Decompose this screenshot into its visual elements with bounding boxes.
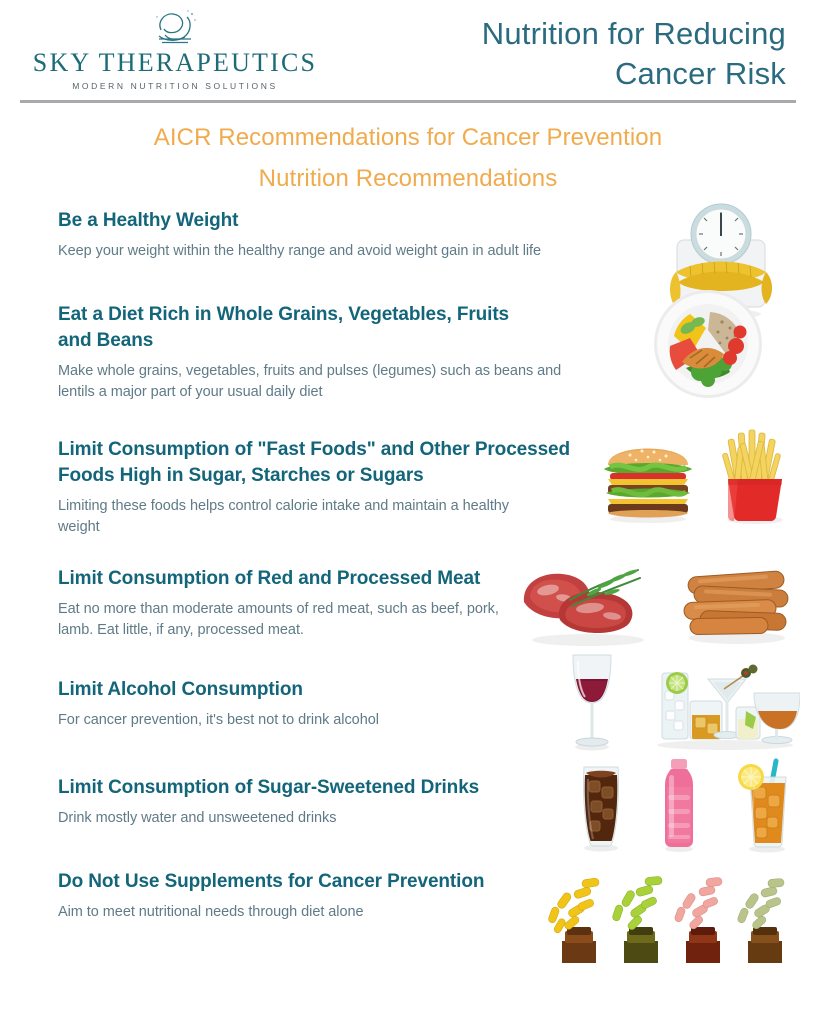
recommendation-text: Do Not Use Supplements for Cancer Preven… xyxy=(58,869,484,923)
recommendation-artwork xyxy=(574,753,800,853)
recommendation-red-meat: Limit Consumption of Red and Processed M… xyxy=(0,566,816,641)
recommendation-text: Limit Consumption of Red and Processed M… xyxy=(58,566,508,641)
recommendation-body: Make whole grains, vegetables, fruits an… xyxy=(58,361,563,403)
assorted-cocktails-image xyxy=(650,645,800,753)
recommendation-whole-grains: Eat a Diet Rich in Whole Grains, Vegetab… xyxy=(0,302,816,403)
infographic-page: SKY THERAPEUTICS MODERN NUTRITION SOLUTI… xyxy=(0,0,816,1020)
recommendation-fast-foods: Limit Consumption of "Fast Foods" and Ot… xyxy=(0,437,816,538)
recommendation-heading: Limit Alcohol Consumption xyxy=(58,677,379,703)
red-wine-glass-image xyxy=(564,645,620,753)
pink-sports-drink-bottle-image xyxy=(656,753,702,853)
recommendation-artwork xyxy=(514,556,800,648)
supplement-bottles-with-capsules-image xyxy=(538,867,810,963)
sky-swirl-logo-icon xyxy=(30,8,320,50)
brand-logo: SKY THERAPEUTICS MODERN NUTRITION SOLUTI… xyxy=(30,8,320,91)
recommendation-text: Eat a Diet Rich in Whole Grains, Vegetab… xyxy=(58,302,563,403)
cola-glass-image xyxy=(574,753,628,853)
recommendation-heading: Eat a Diet Rich in Whole Grains, Vegetab… xyxy=(58,302,518,354)
recommendation-artwork xyxy=(538,867,810,963)
recommendation-body: Eat no more than moderate amounts of red… xyxy=(58,599,508,641)
raw-steak-image xyxy=(514,556,662,648)
french-fries-image xyxy=(712,427,798,525)
section-subtitle: AICR Recommendations for Cancer Preventi… xyxy=(0,118,816,200)
recommendation-sugary-drinks: Limit Consumption of Sugar-Sweetened Dri… xyxy=(0,775,816,829)
recommendation-artwork xyxy=(564,645,800,753)
header-divider xyxy=(20,100,796,103)
recommendation-healthy-weight: Be a Healthy Weight Keep your weight wit… xyxy=(0,208,816,262)
page-title-line2: Cancer Risk xyxy=(615,56,786,91)
recommendation-body: Drink mostly water and unsweetened drink… xyxy=(58,808,479,829)
recommendation-text: Limit Consumption of Sugar-Sweetened Dri… xyxy=(58,775,479,829)
brand-name: SKY THERAPEUTICS xyxy=(30,48,320,78)
recommendation-supplements: Do Not Use Supplements for Cancer Preven… xyxy=(0,869,816,923)
page-header: SKY THERAPEUTICS MODERN NUTRITION SOLUTI… xyxy=(0,0,816,100)
recommendation-body: Limiting these foods helps control calor… xyxy=(58,496,538,538)
recommendation-body: Keep your weight within the healthy rang… xyxy=(58,241,541,262)
subtitle-line1: AICR Recommendations for Cancer Preventi… xyxy=(154,124,662,151)
page-title-line1: Nutrition for Reducing xyxy=(482,16,786,51)
recommendation-heading: Do Not Use Supplements for Cancer Preven… xyxy=(58,869,484,895)
recommendation-text: Limit Consumption of "Fast Foods" and Ot… xyxy=(58,437,578,538)
sausages-image xyxy=(674,556,800,648)
recommendation-heading: Limit Consumption of Red and Processed M… xyxy=(58,566,508,592)
recommendation-artwork xyxy=(652,288,764,400)
recommendation-body: Aim to meet nutritional needs through di… xyxy=(58,902,484,923)
recommendation-heading: Be a Healthy Weight xyxy=(58,208,541,234)
recommendation-artwork xyxy=(596,427,798,525)
iced-tea-glass-image xyxy=(730,753,800,853)
recommendation-alcohol: Limit Alcohol Consumption For cancer pre… xyxy=(0,677,816,731)
recommendation-heading: Limit Consumption of "Fast Foods" and Ot… xyxy=(58,437,578,489)
recommendation-heading: Limit Consumption of Sugar-Sweetened Dri… xyxy=(58,775,479,801)
recommendation-text: Be a Healthy Weight Keep your weight wit… xyxy=(58,208,541,262)
brand-tagline: MODERN NUTRITION SOLUTIONS xyxy=(30,81,320,91)
recommendation-body: For cancer prevention, it's best not to … xyxy=(58,710,379,731)
healthy-plate-of-food-image xyxy=(652,288,764,400)
hamburger-image xyxy=(596,427,700,525)
page-title: Nutrition for Reducing Cancer Risk xyxy=(366,14,786,93)
recommendation-text: Limit Alcohol Consumption For cancer pre… xyxy=(58,677,379,731)
